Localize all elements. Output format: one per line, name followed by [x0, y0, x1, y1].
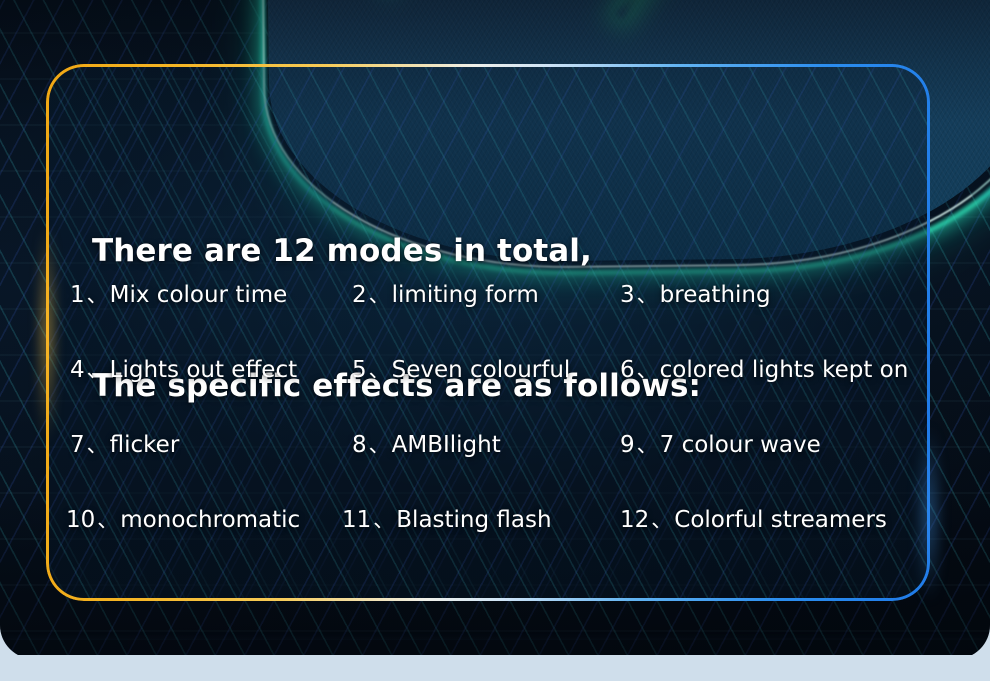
mode-separator-icon: 、 — [635, 358, 660, 382]
mode-label: Colorful streamers — [674, 507, 887, 533]
mode-number: 5 — [352, 357, 367, 383]
mode-separator-icon: 、 — [85, 358, 110, 382]
mode-row: 1、Mix colour time2、limiting form3、breath… — [46, 280, 930, 355]
mode-label: AMBIlight — [392, 432, 501, 458]
heading-line-1: There are 12 modes in total, — [92, 229, 701, 274]
mode-number: 6 — [620, 357, 635, 383]
mode-label: Blasting flash — [396, 507, 551, 533]
mode-item-1: 1、Mix colour time — [70, 280, 287, 310]
mode-label: Lights out effect — [110, 357, 297, 383]
mode-number: 9 — [620, 432, 635, 458]
mode-item-12: 12、Colorful streamers — [620, 505, 887, 535]
mode-number: 12 — [620, 507, 649, 533]
mode-number: 4 — [70, 357, 85, 383]
mode-label: breathing — [660, 282, 771, 308]
mode-separator-icon: 、 — [95, 508, 120, 532]
mode-label: monochromatic — [120, 507, 300, 533]
mode-label: limiting form — [392, 282, 539, 308]
mode-label: 7 colour wave — [660, 432, 821, 458]
mode-number: 7 — [70, 432, 85, 458]
mode-item-9: 9、7 colour wave — [620, 430, 821, 460]
mode-row: 4、Lights out effect5、Seven colourful6、co… — [46, 355, 930, 430]
mode-item-5: 5、Seven colourful — [352, 355, 570, 385]
mode-number: 2 — [352, 282, 367, 308]
mode-separator-icon: 、 — [635, 433, 660, 457]
page-bottom-strip — [0, 655, 990, 681]
mode-separator-icon: 、 — [649, 508, 674, 532]
mode-label: Mix colour time — [110, 282, 288, 308]
mode-row: 7、flicker8、AMBIlight9、7 colour wave — [46, 430, 930, 505]
mode-label: Seven colourful — [392, 357, 571, 383]
product-photo-backdrop: There are 12 modes in total, The specifi… — [0, 0, 990, 659]
mode-item-11: 11、Blasting flash — [342, 505, 552, 535]
mode-item-10: 10、monochromatic — [66, 505, 300, 535]
mode-item-4: 4、Lights out effect — [70, 355, 297, 385]
mode-number: 3 — [620, 282, 635, 308]
mode-list: 1、Mix colour time2、limiting form3、breath… — [46, 280, 930, 580]
mode-item-6: 6、colored lights kept on — [620, 355, 908, 385]
mode-separator-icon: 、 — [85, 433, 110, 457]
mode-item-3: 3、breathing — [620, 280, 771, 310]
mode-item-7: 7、flicker — [70, 430, 179, 460]
mode-separator-icon: 、 — [367, 283, 392, 307]
mode-number: 10 — [66, 507, 95, 533]
mode-separator-icon: 、 — [635, 283, 660, 307]
mode-item-8: 8、AMBIlight — [352, 430, 501, 460]
mode-row: 10、monochromatic11、Blasting flash12、Colo… — [46, 505, 930, 580]
mode-separator-icon: 、 — [367, 358, 392, 382]
mode-label: flicker — [110, 432, 180, 458]
mode-number: 8 — [352, 432, 367, 458]
mode-number: 11 — [342, 507, 371, 533]
promo-panel: There are 12 modes in total, The specifi… — [0, 0, 990, 681]
mode-label: colored lights kept on — [660, 357, 909, 383]
mode-number: 1 — [70, 282, 85, 308]
mode-item-2: 2、limiting form — [352, 280, 539, 310]
mode-separator-icon: 、 — [85, 283, 110, 307]
mode-separator-icon: 、 — [367, 433, 392, 457]
mode-separator-icon: 、 — [371, 508, 396, 532]
